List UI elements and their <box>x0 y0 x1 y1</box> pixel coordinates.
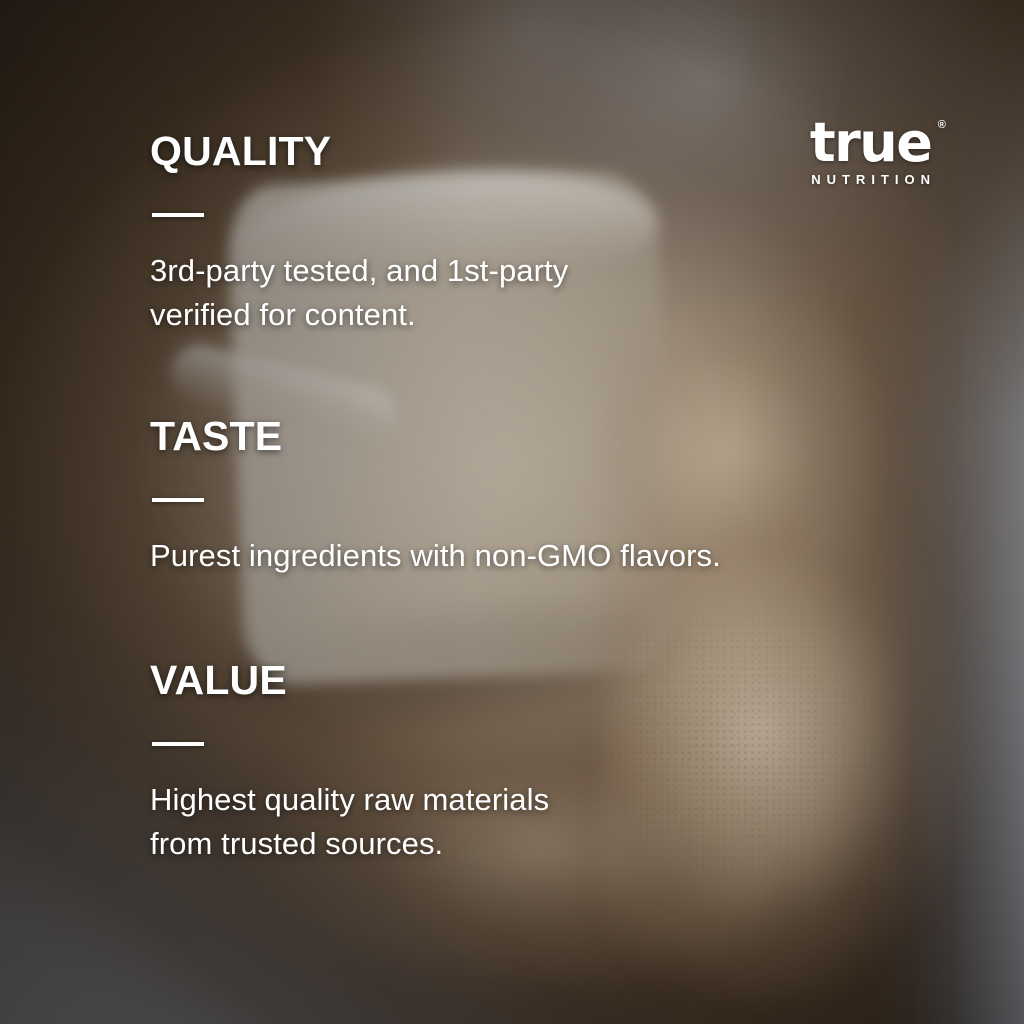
feature-body-value: Highest quality raw materials from trust… <box>150 778 549 866</box>
feature-body-quality: 3rd-party tested, and 1st-party verified… <box>150 249 568 337</box>
feature-body-taste: Purest ingredients with non-GMO flavors. <box>150 534 721 578</box>
brand-logo-subtitle: NUTRITION <box>805 173 936 186</box>
brand-logo-word-text: true <box>810 111 932 174</box>
content-overlay: true® NUTRITION QUALITY 3rd-party tested… <box>0 0 1024 1024</box>
promo-card: true® NUTRITION QUALITY 3rd-party tested… <box>0 0 1024 1024</box>
feature-divider-value <box>152 742 204 746</box>
feature-block-taste: TASTE Purest ingredients with non-GMO fl… <box>150 416 721 578</box>
feature-divider-taste <box>152 498 204 502</box>
feature-block-value: VALUE Highest quality raw materials from… <box>150 660 549 866</box>
brand-logo-wordmark: true® <box>810 118 932 168</box>
brand-logo[interactable]: true® NUTRITION <box>805 118 936 186</box>
feature-title-taste: TASTE <box>150 416 721 457</box>
feature-title-value: VALUE <box>150 660 549 701</box>
feature-divider-quality <box>152 213 204 217</box>
feature-block-quality: QUALITY 3rd-party tested, and 1st-party … <box>150 131 568 337</box>
feature-title-quality: QUALITY <box>150 131 568 172</box>
registered-trademark-icon: ® <box>938 120 945 131</box>
